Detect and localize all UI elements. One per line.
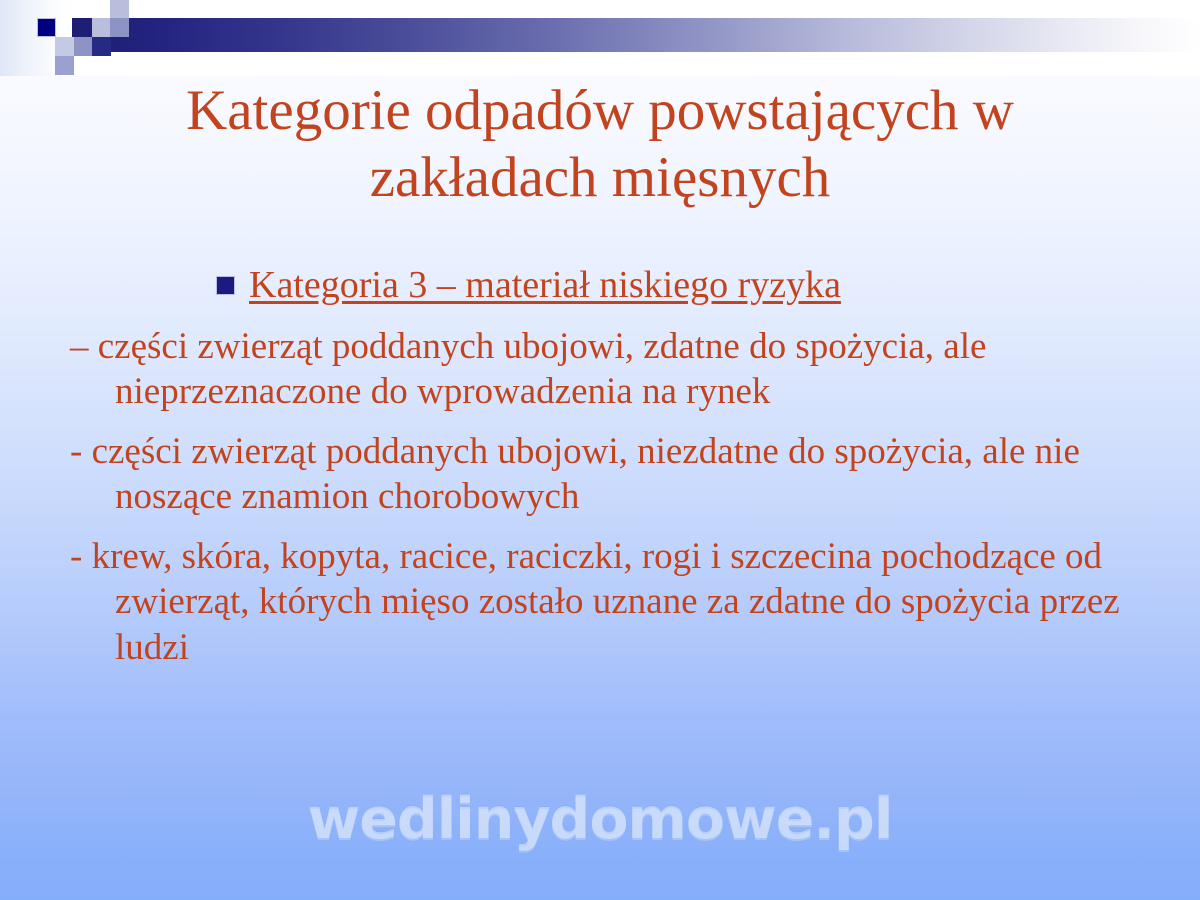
body-paragraph: - części zwierząt poddanych ubojowi, nie…	[0, 429, 1200, 520]
checker-square	[37, 18, 56, 37]
slide-body: Kategoria 3 – materiał niskiego ryzyka –…	[0, 262, 1200, 684]
checker-square	[55, 37, 74, 56]
checker-square	[74, 37, 93, 56]
category-heading: Kategoria 3 – materiał niskiego ryzyka	[0, 262, 1200, 310]
checker-square	[110, 0, 129, 19]
band-background	[0, 0, 1200, 76]
band-gradient-bar	[72, 18, 1200, 52]
category-heading-label: Kategoria 3 – materiał niskiego ryzyka	[249, 262, 841, 310]
band-left-fade	[0, 0, 75, 76]
slide-title: Kategorie odpadów powstających w zakłada…	[60, 78, 1140, 211]
body-paragraph: – części zwierząt poddanych ubojowi, zda…	[0, 324, 1200, 415]
square-bullet-icon	[216, 276, 235, 295]
presentation-slide: Kategorie odpadów powstających w zakłada…	[0, 0, 1200, 900]
checker-square	[92, 18, 111, 37]
slide-title-line-1: Kategorie odpadów powstających w	[60, 78, 1140, 145]
checker-square	[55, 56, 74, 75]
checker-square	[110, 18, 129, 37]
watermark: wedlinydomowe.pl	[0, 786, 1200, 852]
checker-square	[92, 37, 111, 56]
body-paragraph: - krew, skóra, kopyta, racice, raciczki,…	[0, 534, 1200, 671]
slide-title-line-2: zakładach mięsnych	[60, 145, 1140, 212]
decorative-header-band	[0, 0, 1200, 76]
